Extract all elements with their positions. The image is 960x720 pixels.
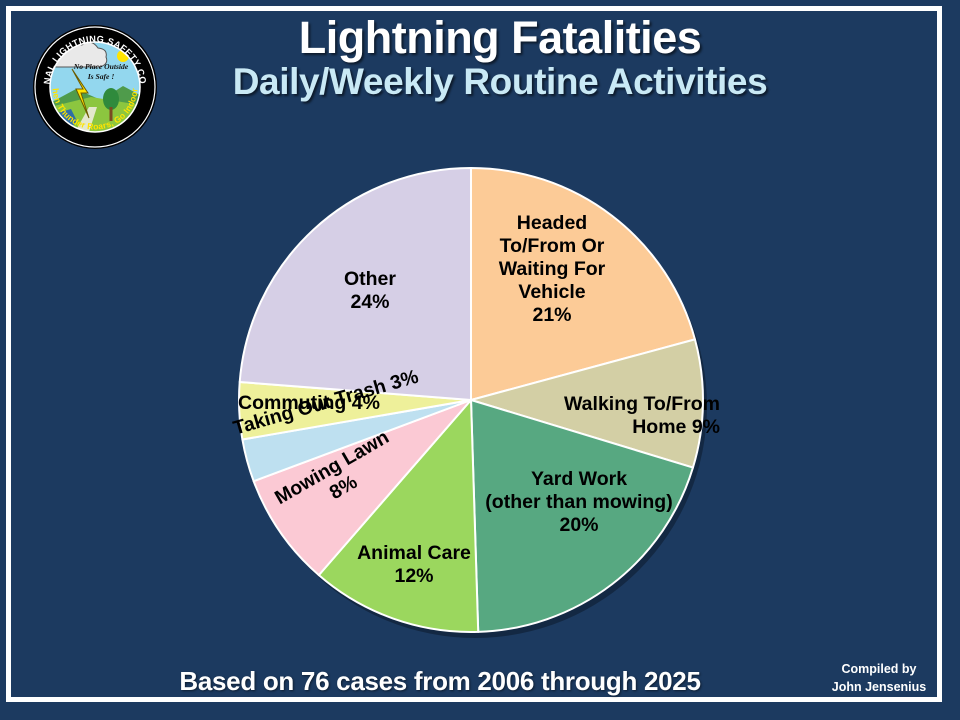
credit-line-1: Compiled by (820, 660, 938, 678)
credit-block: Compiled by John Jensenius (820, 660, 938, 696)
source-note: Based on 76 cases from 2006 through 2025 (0, 666, 960, 697)
credit-line-2: John Jensenius (820, 678, 938, 696)
pie-chart-svg (0, 0, 960, 720)
poster-canvas: NATIONAL LIGHTNING SAFETY COUNCIL When T… (0, 0, 960, 720)
pie-slice-other[interactable] (240, 168, 471, 400)
pie-slice-group (239, 168, 707, 638)
pie-chart (0, 0, 960, 720)
